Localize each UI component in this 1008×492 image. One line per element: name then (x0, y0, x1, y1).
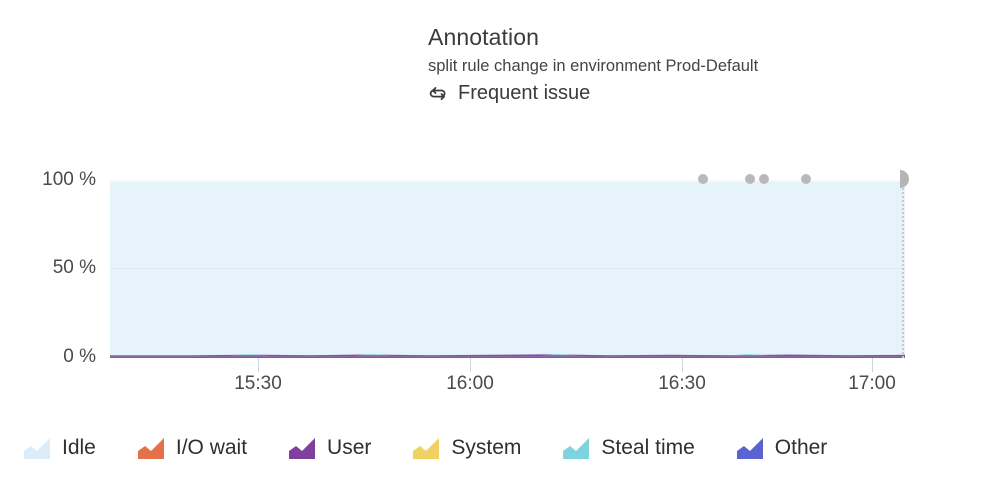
legend-item-user[interactable]: User (289, 436, 371, 460)
area-chart-icon (289, 437, 316, 459)
annotation-tag: Frequent issue (428, 79, 988, 107)
area-chart-icon (24, 437, 51, 459)
plot-area[interactable] (110, 180, 905, 358)
plot-top-edge (110, 180, 905, 182)
y-axis: 100 % 50 % 0 % (0, 150, 96, 350)
gridline-50 (110, 268, 905, 269)
current-annotation-marker[interactable] (900, 170, 914, 358)
legend-item-system[interactable]: System (413, 436, 521, 460)
legend-item-idle[interactable]: Idle (24, 436, 96, 460)
x-axis-tick (872, 358, 873, 372)
legend-item-steal-time[interactable]: Steal time (563, 436, 694, 460)
legend-label: User (327, 436, 371, 460)
annotation-subtitle: split rule change in environment Prod-De… (428, 54, 988, 78)
x-axis-tick-label: 17:00 (848, 372, 896, 396)
x-axis-tick-label: 16:30 (658, 372, 706, 396)
annotation-dot[interactable] (698, 174, 708, 184)
x-axis: 15:30 16:00 16:30 17:00 (0, 358, 1008, 408)
area-chart-icon (563, 437, 590, 459)
legend-item-other[interactable]: Other (737, 436, 828, 460)
x-axis-tick-label: 15:30 (234, 372, 282, 396)
legend-label: Steal time (601, 436, 694, 460)
area-chart-icon (413, 437, 440, 459)
x-axis-tick-label: 16:00 (446, 372, 494, 396)
annotation-header: Annotation split rule change in environm… (428, 22, 988, 107)
annotation-marker-line (902, 188, 904, 358)
x-axis-tick (470, 358, 471, 372)
annotation-dot[interactable] (801, 174, 811, 184)
y-axis-tick-label: 50 % (53, 257, 96, 279)
repeat-icon (428, 83, 449, 104)
legend-label: Other (775, 436, 828, 460)
annotation-dot[interactable] (759, 174, 769, 184)
y-axis-tick-label: 100 % (42, 169, 96, 191)
annotation-marker-cap (900, 170, 909, 188)
legend-label: Idle (62, 436, 96, 460)
cpu-usage-chart[interactable]: 100 % 50 % 0 % (0, 150, 1008, 380)
x-axis-tick (258, 358, 259, 372)
x-axis-tick (682, 358, 683, 372)
legend-label: I/O wait (176, 436, 247, 460)
chart-legend: Idle I/O wait User System Steal time Oth… (0, 418, 1008, 478)
area-chart-icon (138, 437, 165, 459)
legend-item-io-wait[interactable]: I/O wait (138, 436, 247, 460)
area-chart-icon (737, 437, 764, 459)
annotation-dot[interactable] (745, 174, 755, 184)
annotation-title: Annotation (428, 22, 988, 52)
annotation-tag-label: Frequent issue (458, 79, 590, 107)
legend-label: System (451, 436, 521, 460)
